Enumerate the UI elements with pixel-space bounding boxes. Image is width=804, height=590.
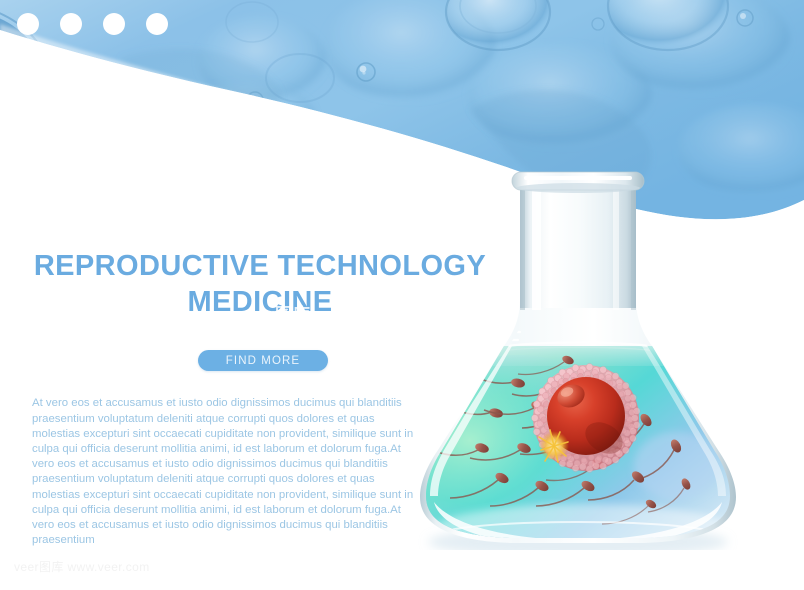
- flask-illustration: [408, 150, 748, 550]
- watermark-bottom: veer图库 www.veer.com: [14, 558, 150, 575]
- body-paragraph: At vero eos et accusamus et iusto odio d…: [32, 396, 414, 548]
- watermark-center: veer图库: [236, 300, 311, 325]
- flask-rim: [512, 172, 644, 193]
- poster-canvas: REPRODUCTIVE TECHNOLOGY MEDICINE veer图库 …: [0, 0, 804, 590]
- decor-dot-4: [146, 13, 168, 35]
- bubble-small: [362, 71, 365, 74]
- decor-dot-1: [17, 13, 39, 35]
- decor-dot-3: [103, 13, 125, 35]
- find-more-button[interactable]: FIND MORE: [198, 350, 328, 371]
- decor-dot-2: [60, 13, 82, 35]
